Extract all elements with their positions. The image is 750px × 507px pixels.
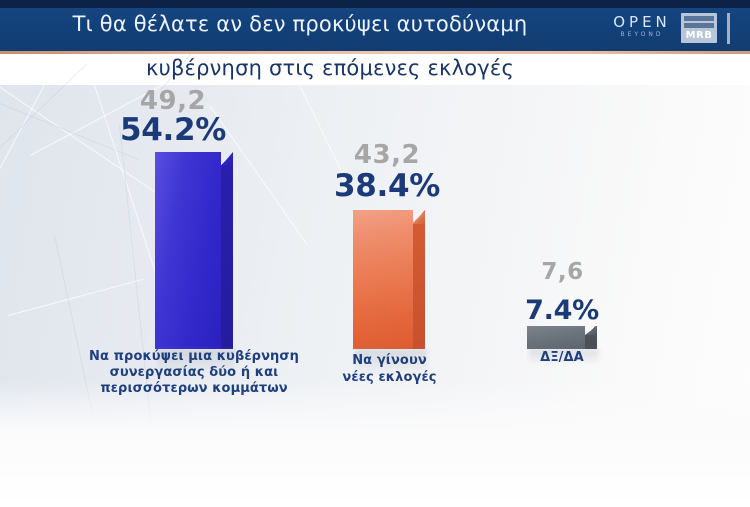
- category-label-dk-da: ΔΞ/ΔΑ: [497, 349, 627, 366]
- bar-new-elections: [353, 210, 425, 349]
- bar-previous-value-dk-da: 7,6: [500, 259, 625, 285]
- bar-coalition-top-bevel: [221, 152, 233, 166]
- header-logo-divider: [727, 13, 730, 44]
- page-title-line-1: Τι θα θέλατε αν δεν προκύψει αυτοδύναμη: [0, 12, 600, 36]
- broadcast-poll-graphic: Τι θα θέλατε αν δεν προκύψει αυτοδύναμη …: [0, 0, 750, 507]
- category-label-new-elections: Να γίνουν νέες εκλογές: [312, 352, 467, 386]
- mrb-logo-stripe-top: [684, 16, 714, 21]
- category-label-new-elections-line-2: νέες εκλογές: [312, 369, 467, 386]
- bar-dk-da: [527, 326, 597, 349]
- background-fade: [0, 380, 750, 507]
- open-logo-word: OPEN: [606, 14, 678, 30]
- category-label-dk-da-line-1: ΔΞ/ΔΑ: [497, 349, 627, 366]
- bar-coalition: [155, 152, 233, 349]
- top-accent-strip: [0, 0, 750, 8]
- page-title-line-2: κυβέρνηση στις επόμενες εκλογές: [0, 56, 660, 80]
- bar-new-elections-side-face: [413, 210, 425, 349]
- category-label-coalition: Να προκύψει μια κυβέρνηση συνεργασίας δύ…: [58, 349, 330, 397]
- header-underline-rule: [0, 51, 750, 54]
- open-logo-subtitle: BEYOND: [606, 30, 678, 40]
- bar-current-value-coalition: 54.2%: [103, 112, 243, 148]
- bar-dk-da-front-face: [527, 326, 585, 349]
- category-label-new-elections-line-1: Να γίνουν: [312, 352, 467, 369]
- bar-dk-da-top-bevel: [585, 326, 597, 335]
- bar-coalition-front-face: [155, 152, 221, 349]
- open-beyond-logo: OPEN BEYOND: [606, 14, 678, 40]
- bar-new-elections-front-face: [353, 210, 413, 349]
- category-label-coalition-line-2: συνεργασίας δύο ή και: [58, 365, 330, 381]
- bar-new-elections-top-bevel: [413, 210, 425, 224]
- mrb-logo-text: MRB: [681, 30, 717, 41]
- bar-current-value-dk-da: 7.4%: [498, 295, 626, 326]
- category-label-coalition-line-3: περισσότερων κομμάτων: [58, 381, 330, 397]
- bar-coalition-body: [155, 152, 233, 349]
- bar-current-value-new-elections: 38.4%: [317, 168, 457, 204]
- bar-previous-value-new-elections: 43,2: [322, 140, 452, 170]
- category-label-coalition-line-1: Να προκύψει μια κυβέρνηση: [58, 349, 330, 365]
- mrb-logo-stripe-middle: [684, 23, 714, 28]
- bar-coalition-side-face: [221, 152, 233, 349]
- bar-new-elections-body: [353, 210, 425, 349]
- mrb-logo: MRB: [681, 13, 717, 43]
- bar-dk-da-body: [527, 326, 597, 349]
